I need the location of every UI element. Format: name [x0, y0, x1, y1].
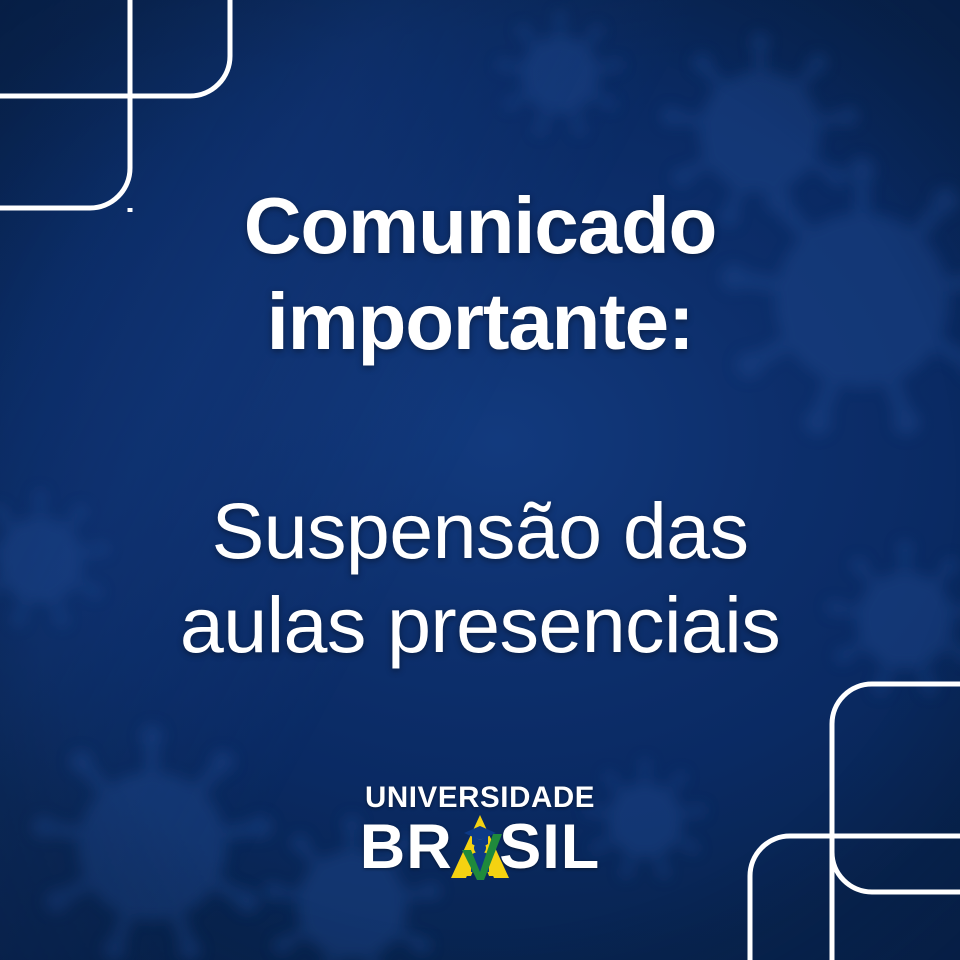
universidade-brasil-logo: Universidade BRASIL [350, 783, 610, 882]
secondary-headline-line-1: Suspensão das [0, 484, 960, 578]
logo-main-word: BRASIL [350, 816, 610, 882]
logo-word-prefix: BR [360, 812, 453, 882]
secondary-headline: Suspensão das aulas presenciais [0, 484, 960, 672]
graduate-in-flag-a-icon [449, 814, 511, 880]
logo-word-suffix: SIL [499, 812, 600, 882]
logo-top-word: Universidade [350, 783, 610, 813]
primary-headline-line-2: importante: [0, 274, 960, 370]
primary-headline-line-1: Comunicado [0, 178, 960, 274]
graduate-in-flag-a-svg [449, 814, 511, 880]
secondary-headline-line-2: aulas presenciais [0, 578, 960, 672]
primary-headline: Comunicado importante: [0, 178, 960, 370]
announcement-poster: Comunicado importante: Suspensão das aul… [0, 0, 960, 960]
